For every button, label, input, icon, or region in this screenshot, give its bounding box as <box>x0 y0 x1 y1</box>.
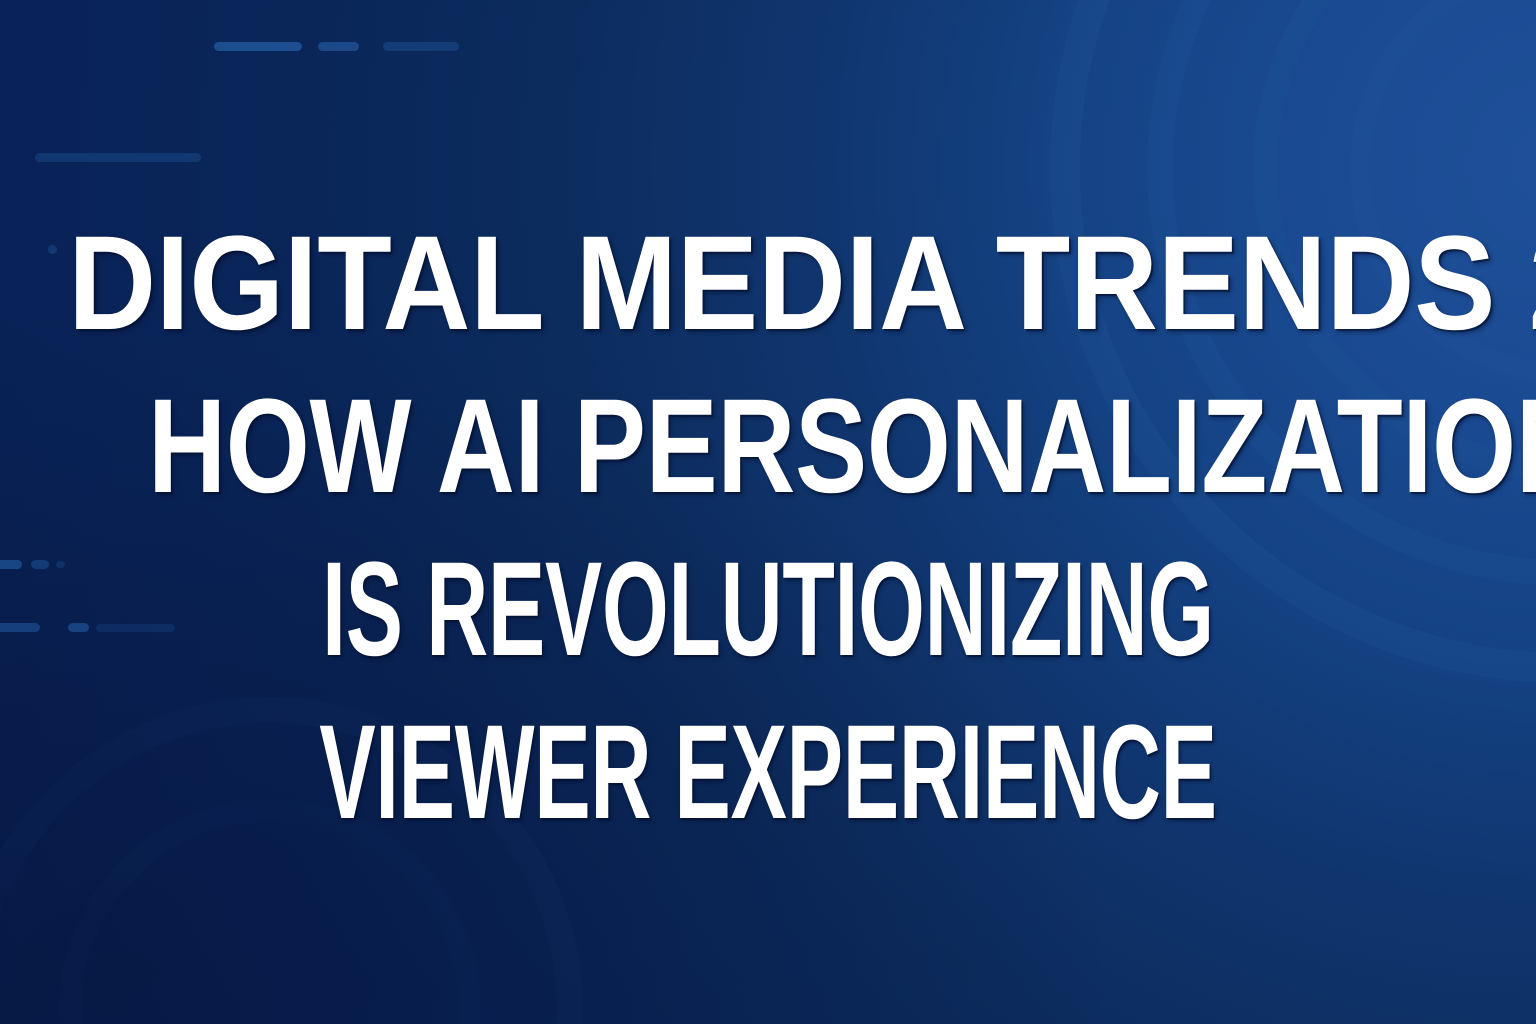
dash-left-long <box>35 153 201 162</box>
title-line-1: DIGITAL MEDIA TRENDS 2025: <box>68 202 1468 365</box>
dash-top-1 <box>214 42 302 51</box>
poster-canvas: DIGITAL MEDIA TRENDS 2025: HOW AI PERSON… <box>0 0 1536 1024</box>
title-line-4: VIEWER EXPERIENCE <box>283 691 1253 854</box>
title-line-2: HOW AI PERSONALIZATION <box>148 365 1388 528</box>
page-title: DIGITAL MEDIA TRENDS 2025: HOW AI PERSON… <box>0 202 1536 854</box>
dash-top-2 <box>318 42 359 51</box>
dash-top-3 <box>383 42 459 51</box>
title-line-3: IS REVOLUTIONIZING <box>276 528 1261 691</box>
